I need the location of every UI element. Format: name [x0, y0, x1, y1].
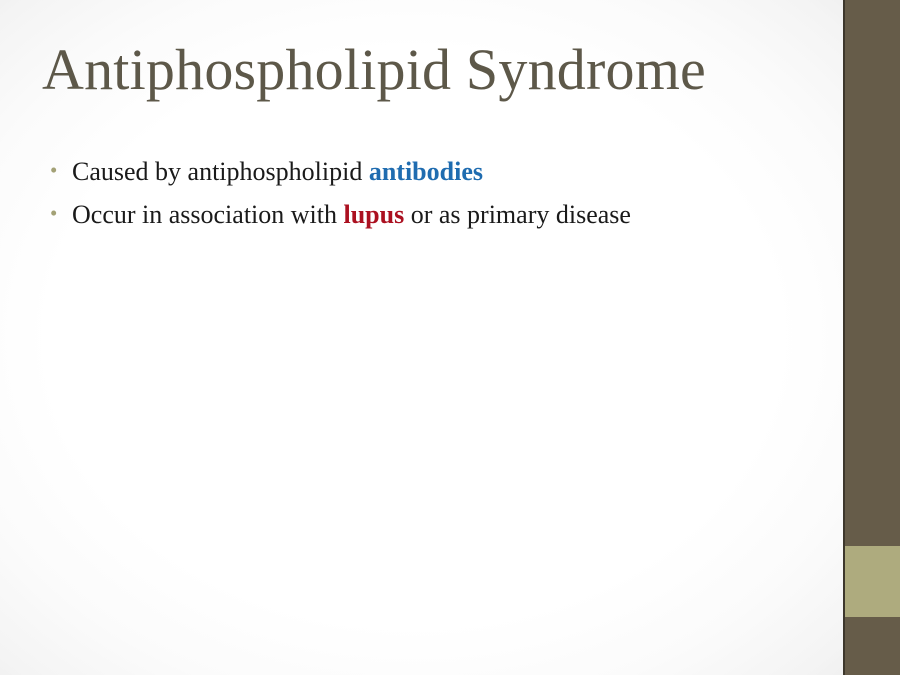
slide-title: Antiphospholipid Syndrome: [42, 38, 802, 103]
bullet-2-keyword-lupus: lupus: [344, 200, 405, 229]
bullet-point-icon: •: [50, 203, 72, 224]
sidebar-band-brown-top: [845, 0, 900, 546]
presentation-slide: Antiphospholipid Syndrome • Caused by an…: [0, 0, 900, 675]
bullet-point-icon: •: [50, 160, 72, 181]
bullet-item-text: Occur in association with lupus or as pr…: [72, 199, 820, 231]
bullet-item-text: Caused by antiphospholipid antibodies: [72, 156, 820, 188]
bullet-1-keyword-antibodies: antibodies: [369, 157, 483, 186]
list-item: • Occur in association with lupus or as …: [50, 199, 820, 231]
bullet-2-text-suffix: or as primary disease: [404, 200, 631, 229]
sidebar-band-brown-bottom: [845, 617, 900, 675]
list-item: • Caused by antiphospholipid antibodies: [50, 156, 820, 188]
slide-bullet-list: • Caused by antiphospholipid antibodies …: [50, 156, 820, 242]
sidebar-band-khaki-accent: [845, 546, 900, 617]
bullet-2-text-prefix: Occur in association with: [72, 200, 344, 229]
bullet-1-text-plain: Caused by antiphospholipid: [72, 157, 369, 186]
slide-decorative-sidebar: [843, 0, 900, 675]
